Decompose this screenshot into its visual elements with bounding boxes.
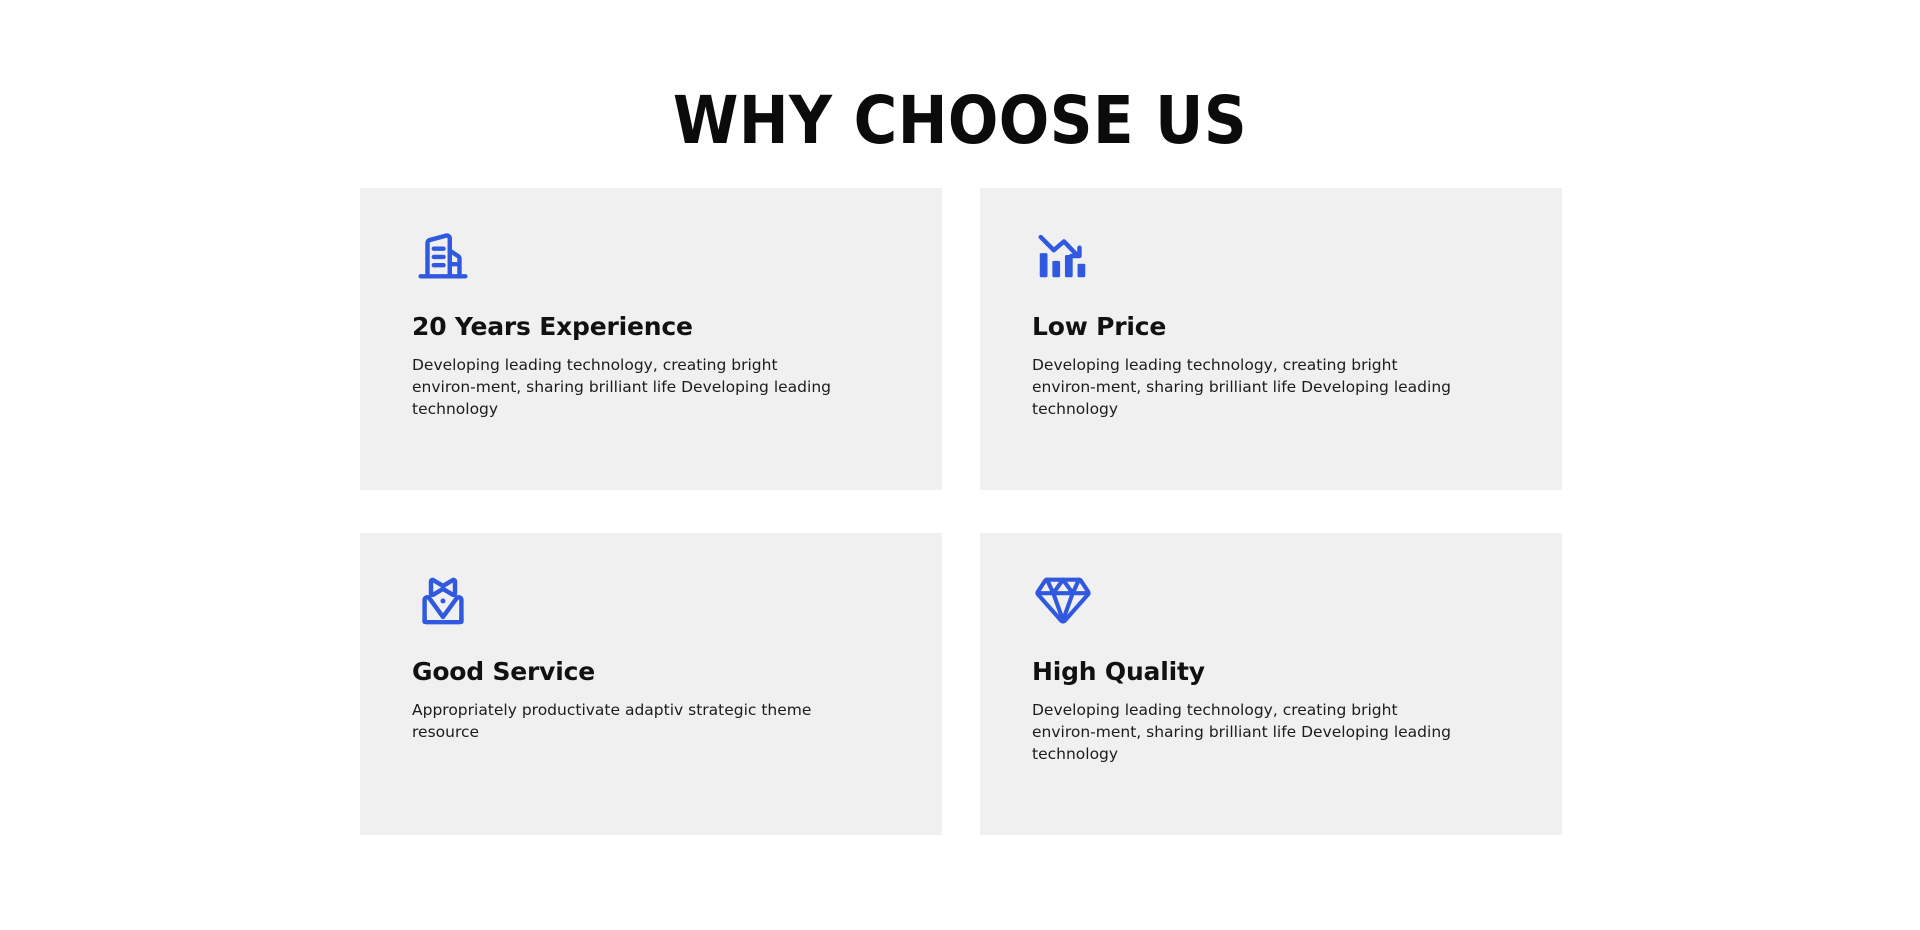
card-title: Low Price [1032,313,1166,341]
feature-card-grid: 20 Years Experience Developing leading t… [360,188,1562,829]
page-title: WHY CHOOSE US [96,88,1824,154]
bow-tie-suit-icon [412,569,474,631]
feature-card[interactable]: High Quality Developing leading technolo… [980,533,1562,835]
card-description: Developing leading technology, creating … [412,354,842,420]
card-title: Good Service [412,658,595,686]
office-building-icon [412,224,474,286]
card-description: Developing leading technology, creating … [1032,354,1462,420]
diamond-gem-icon [1032,569,1094,631]
feature-card[interactable]: Low Price Developing leading technology,… [980,188,1562,490]
card-title: High Quality [1032,658,1205,686]
feature-card[interactable]: Good Service Appropriately productivate … [360,533,942,835]
card-description: Appropriately productivate adaptiv strat… [412,699,842,743]
why-choose-us-section: WHY CHOOSE US 20 Years Experience Develo… [0,0,1920,930]
card-title: 20 Years Experience [412,313,693,341]
feature-card[interactable]: 20 Years Experience Developing leading t… [360,188,942,490]
card-description: Developing leading technology, creating … [1032,699,1462,765]
declining-bar-chart-icon [1032,224,1094,286]
